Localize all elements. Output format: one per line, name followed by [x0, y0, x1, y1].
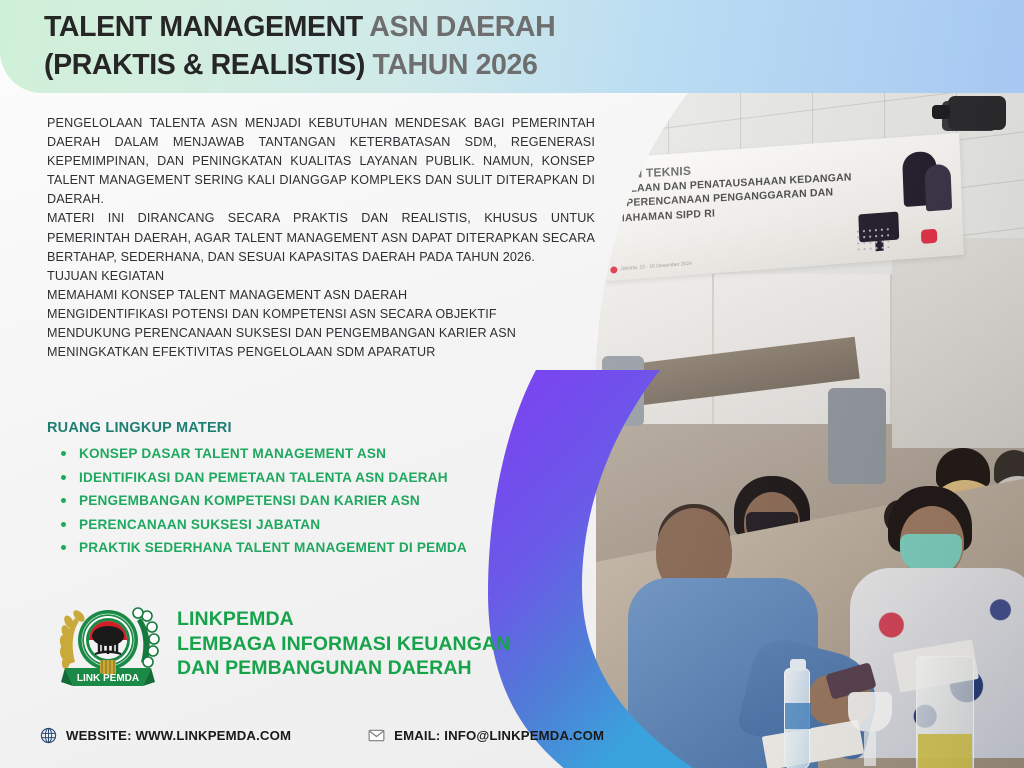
bullet-icon — [61, 451, 66, 456]
footer-email-label: EMAIL: INFO@LINKPEMDA.COM — [394, 728, 604, 743]
banner-logo-dot-icon — [610, 266, 617, 274]
tea-jar — [916, 656, 974, 768]
scope-heading: RUANG LINGKUP MATERI — [47, 420, 567, 436]
brand-text: LINKPEMDA LEMBAGA INFORMASI KEUANGAN DAN… — [177, 607, 510, 681]
objective-item: MENINGKATKAN EFEKTIVITAS PENGELOLAAN SDM… — [47, 343, 595, 362]
list-item: IDENTIFIKASI DAN PEMETAAN TALENTA ASN DA… — [47, 466, 567, 490]
link-pemda-emblem-icon: LINK PEMDA — [55, 596, 163, 692]
bullet-icon — [61, 475, 66, 480]
banner-illustration — [852, 149, 955, 252]
footer-website-label: WEBSITE: WWW.LINKPEMDA.COM — [66, 728, 291, 743]
logo-banner-text: LINK PEMDA — [77, 673, 139, 684]
brand-block: LINK PEMDA LINKPEMDA LEMBAGA INFORMASI K… — [55, 596, 510, 692]
footer-email[interactable]: EMAIL: INFO@LINKPEMDA.COM — [368, 727, 604, 744]
list-item-label: IDENTIFIKASI DAN PEMETAAN TALENTA ASN DA… — [79, 470, 448, 485]
title-line-1-dark: TALENT MANAGEMENT — [44, 11, 369, 43]
room-wall — [892, 238, 1024, 448]
page-title: TALENT MANAGEMENT ASN DAERAH (PRAKTIS & … — [44, 8, 764, 84]
list-item: PERENCANAAN SUKSESI JABATAN — [47, 513, 567, 537]
objective-item: MENDUKUNG PERENCANAAN SUKSESI DAN PENGEM… — [47, 324, 595, 343]
bullet-icon — [61, 522, 66, 527]
list-item-label: KONSEP DASAR TALENT MANAGEMENT ASN — [79, 446, 386, 461]
list-item: PENGEMBANGAN KOMPETENSI DAN KARIER ASN — [47, 489, 567, 513]
bullet-icon — [61, 498, 66, 503]
projector-icon — [948, 96, 1006, 130]
footer: WEBSITE: WWW.LINKPEMDA.COM EMAIL: INFO@L… — [40, 727, 604, 744]
banner-text: GAN TEKNIS LOLAAN DAN PENATAUSAHAAN KEDA… — [615, 155, 852, 225]
footer-website[interactable]: WEBSITE: WWW.LINKPEMDA.COM — [40, 727, 291, 744]
list-item: PRAKTIK SEDERHANA TALENT MANAGEMENT DI P… — [47, 536, 567, 560]
body-content: PENGELOLAAN TALENTA ASN MENJADI KEBUTUHA… — [47, 114, 595, 362]
objective-item: MEMAHAMI KONSEP TALENT MANAGEMENT ASN DA… — [47, 286, 595, 305]
objectives-block: TUJUAN KEGIATAN MEMAHAMI KONSEP TALENT M… — [47, 267, 595, 362]
title-line-2: (PRAKTIS & REALISTIS) TAHUN 2026 — [44, 46, 764, 84]
chair — [602, 356, 644, 426]
list-item-label: PERENCANAAN SUKSESI JABATAN — [79, 517, 320, 532]
scope-section: RUANG LINGKUP MATERI KONSEP DASAR TALENT… — [47, 420, 567, 560]
title-line-1-grey: ASN DAERAH — [369, 11, 555, 43]
scope-list: KONSEP DASAR TALENT MANAGEMENT ASN IDENT… — [47, 442, 567, 560]
brand-tagline-line-1: LEMBAGA INFORMASI KEUANGAN — [177, 632, 510, 657]
brand-tagline-line-2: DAN PEMBANGUNAN DAERAH — [177, 656, 510, 681]
title-line-2-grey: TAHUN 2026 — [372, 49, 537, 81]
chair — [828, 388, 886, 484]
banner-footer-text: Jakarta, 15 - 16 Desember 2024 — [620, 261, 692, 272]
list-item: KONSEP DASAR TALENT MANAGEMENT ASN — [47, 442, 567, 466]
drinking-glass — [848, 692, 892, 732]
photo-background: GAN TEKNIS LOLAAN DAN PENATAUSAHAAN KEDA… — [596, 88, 1024, 768]
list-item-label: PENGEMBANGAN KOMPETENSI DAN KARIER ASN — [79, 493, 420, 508]
poster-canvas: GAN TEKNIS LOLAAN DAN PENATAUSAHAAN KEDA… — [0, 0, 1024, 768]
list-item-label: PRAKTIK SEDERHANA TALENT MANAGEMENT DI P… — [79, 540, 467, 555]
brand-name: LINKPEMDA — [177, 607, 510, 632]
title-line-1: TALENT MANAGEMENT ASN DAERAH — [44, 8, 764, 46]
paragraph-1: PENGELOLAAN TALENTA ASN MENJADI KEBUTUHA… — [47, 114, 595, 209]
objectives-heading: TUJUAN KEGIATAN — [47, 267, 595, 286]
seminar-room-photo: GAN TEKNIS LOLAAN DAN PENATAUSAHAAN KEDA… — [596, 88, 1024, 768]
title-line-2-dark: (PRAKTIS & REALISTIS) — [44, 49, 372, 81]
paragraph-2: MATERI INI DIRANCANG SECARA PRAKTIS DAN … — [47, 209, 595, 266]
objective-item: MENGIDENTIFIKASI POTENSI DAN KOMPETENSI … — [47, 305, 595, 324]
globe-icon — [40, 727, 57, 744]
bullet-icon — [61, 545, 66, 550]
envelope-icon — [368, 727, 385, 744]
header-bar: TALENT MANAGEMENT ASN DAERAH (PRAKTIS & … — [0, 0, 1024, 93]
water-bottle — [784, 668, 810, 768]
